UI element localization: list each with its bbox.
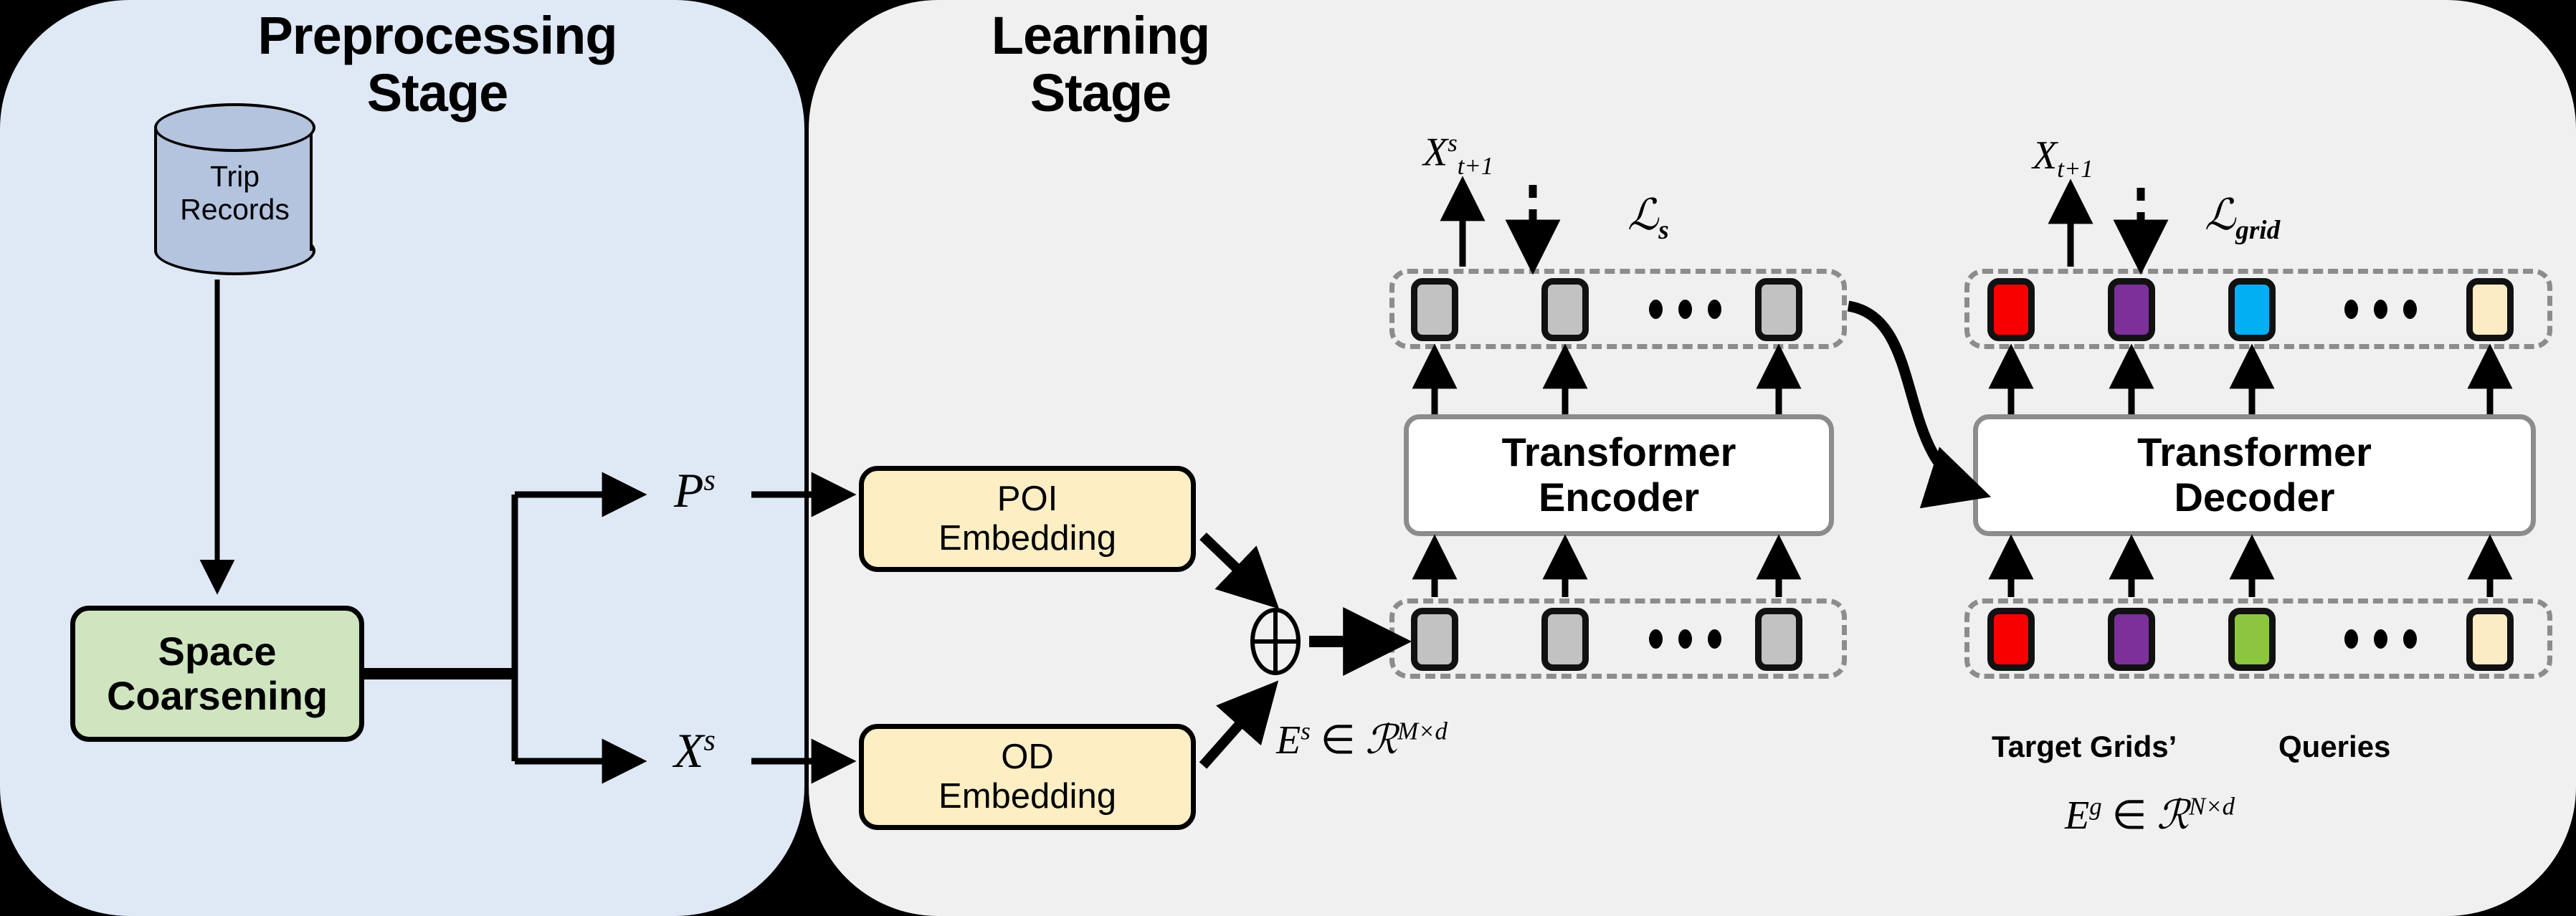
od-embedding-line2: Embedding: [938, 777, 1116, 816]
encoder-target-label: Xst+1: [1423, 129, 1493, 181]
encoder-input-token: [1411, 608, 1458, 671]
od-embedding-line1: OD: [938, 738, 1116, 777]
figure-canvas: Preprocessing Stage Learning Stage Trip …: [0, 0, 2576, 916]
poi-embedding-box: POI Embedding: [859, 466, 1196, 572]
decoder-input-token: [2108, 608, 2155, 671]
decoder-output-ellipsis: [2344, 300, 2417, 319]
decoder-input-ellipsis: [2344, 629, 2417, 649]
encoder-output-ellipsis: [1649, 300, 1721, 319]
od-embedding-box: OD Embedding: [859, 724, 1196, 830]
space-coarsening-line2: Coarsening: [107, 674, 328, 718]
decoder-input-dim-label: Eg ∈ ℛN×d: [2065, 792, 2235, 839]
poi-embedding-line2: Embedding: [938, 519, 1116, 558]
target-grids-caption: Target Grids’: [1992, 730, 2177, 764]
decoder-input-token: [2466, 608, 2514, 671]
poi-symbol-label: Ps: [674, 462, 716, 519]
queries-caption: Queries: [2278, 730, 2390, 764]
trip-records-label: Trip Records: [154, 161, 315, 226]
decoder-target-label: Xt+1: [2033, 133, 2093, 183]
space-coarsening-line1: Space: [107, 629, 328, 674]
decoder-loss-label: ℒgrid: [2205, 190, 2280, 246]
encoder-input-token: [1541, 608, 1589, 671]
encoder-input-dim-label: Es ∈ ℛM×d: [1276, 717, 1448, 763]
decoder-line2: Decoder: [2137, 475, 2372, 520]
encoder-output-token: [1411, 278, 1458, 341]
decoder-input-token: [2228, 608, 2276, 671]
encoder-input-ellipsis: [1649, 629, 1721, 649]
cylinder-top: [154, 103, 315, 152]
trip-records-database-icon: Trip Records: [154, 103, 315, 277]
space-coarsening-box: Space Coarsening: [70, 606, 364, 742]
transformer-encoder-box: Transformer Encoder: [1404, 414, 1834, 536]
preprocessing-title-line1: Preprocessing: [237, 7, 638, 65]
encoder-output-token: [1541, 278, 1589, 341]
circled-plus-icon: [1249, 608, 1302, 675]
encoder-line1: Transformer: [1502, 430, 1736, 475]
encoder-output-token: [1755, 278, 1802, 341]
decoder-output-token: [2466, 278, 2514, 341]
learning-title-line1: Learning: [932, 7, 1269, 65]
learning-title-line2: Stage: [932, 65, 1269, 122]
encoder-loss-label: ℒs: [1627, 190, 1669, 246]
learning-stage-title: Learning Stage: [932, 7, 1269, 122]
od-symbol-label: Xs: [674, 722, 716, 779]
poi-embedding-line1: POI: [938, 480, 1116, 519]
decoder-output-token: [2228, 278, 2276, 341]
encoder-line2: Encoder: [1502, 475, 1736, 520]
decoder-input-token: [1987, 608, 2035, 671]
transformer-decoder-box: Transformer Decoder: [1973, 414, 2536, 536]
decoder-line1: Transformer: [2137, 430, 2372, 475]
decoder-output-token: [2108, 278, 2155, 341]
encoder-input-token: [1755, 608, 1802, 671]
decoder-output-token: [1987, 278, 2035, 341]
